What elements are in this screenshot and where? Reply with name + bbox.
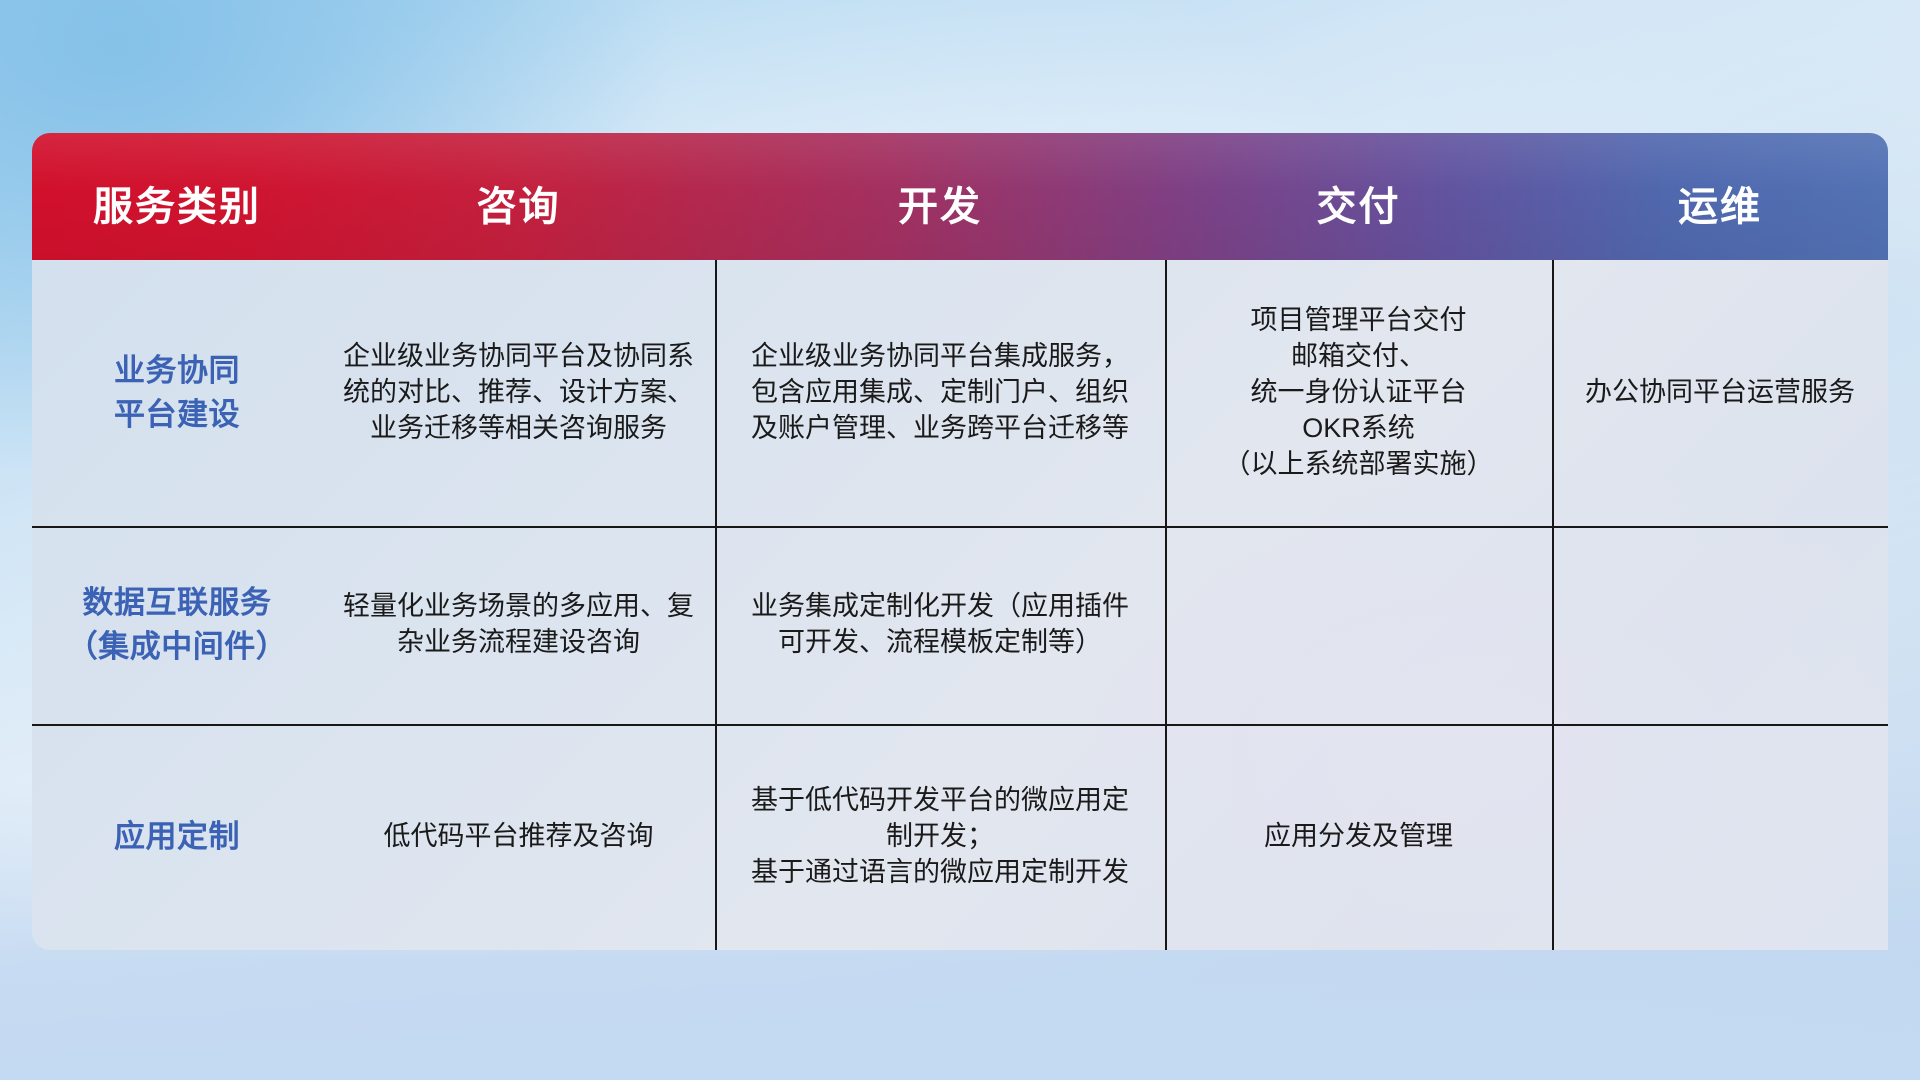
table-row: 数据互联服务 （集成中间件） 轻量化业务场景的多应用、复 杂业务流程建设咨询 业… (32, 526, 1888, 724)
column-header-delivery: 交付 (1165, 174, 1552, 260)
cell-consulting: 低代码平台推荐及咨询 (322, 819, 715, 855)
cell-operations: 办公协同平台运营服务 (1552, 375, 1888, 411)
cell-delivery: 项目管理平台交付 邮箱交付、 统一身份认证平台 OKR系统 （以上系统部署实施） (1165, 303, 1552, 483)
row-category-label: 数据互联服务 （集成中间件） (32, 581, 322, 669)
table-row: 业务协同 平台建设 企业级业务协同平台及协同系 统的对比、推荐、设计方案、 业务… (32, 260, 1888, 526)
table-body: 业务协同 平台建设 企业级业务协同平台及协同系 统的对比、推荐、设计方案、 业务… (32, 260, 1888, 950)
cell-development: 业务集成定制化开发（应用插件 可开发、流程模板定制等） (715, 589, 1165, 661)
cell-delivery: 应用分发及管理 (1165, 819, 1552, 855)
column-header-consulting: 咨询 (322, 174, 715, 260)
column-header-operations: 运维 (1552, 174, 1888, 260)
table-header-row: 服务类别 咨询 开发 交付 运维 (32, 133, 1888, 260)
column-header-service-category: 服务类别 (32, 174, 322, 260)
cell-operations (1552, 620, 1888, 630)
cell-delivery (1165, 620, 1552, 630)
cell-consulting: 轻量化业务场景的多应用、复 杂业务流程建设咨询 (322, 589, 715, 661)
column-header-development: 开发 (715, 174, 1165, 260)
cell-operations (1552, 832, 1888, 842)
cell-consulting: 企业级业务协同平台及协同系 统的对比、推荐、设计方案、 业务迁移等相关咨询服务 (322, 339, 715, 447)
row-category-label: 业务协同 平台建设 (32, 349, 322, 437)
cell-development: 基于低代码开发平台的微应用定 制开发； 基于通过语言的微应用定制开发 (715, 783, 1165, 891)
cell-development: 企业级业务协同平台集成服务， 包含应用集成、定制门户、组织 及账户管理、业务跨平… (715, 339, 1165, 447)
table-row: 应用定制 低代码平台推荐及咨询 基于低代码开发平台的微应用定 制开发； 基于通过… (32, 724, 1888, 950)
row-category-label: 应用定制 (32, 815, 322, 859)
service-category-table: 服务类别 咨询 开发 交付 运维 业务协同 平台建设 企业级业务协同平台及协同系… (32, 133, 1888, 950)
